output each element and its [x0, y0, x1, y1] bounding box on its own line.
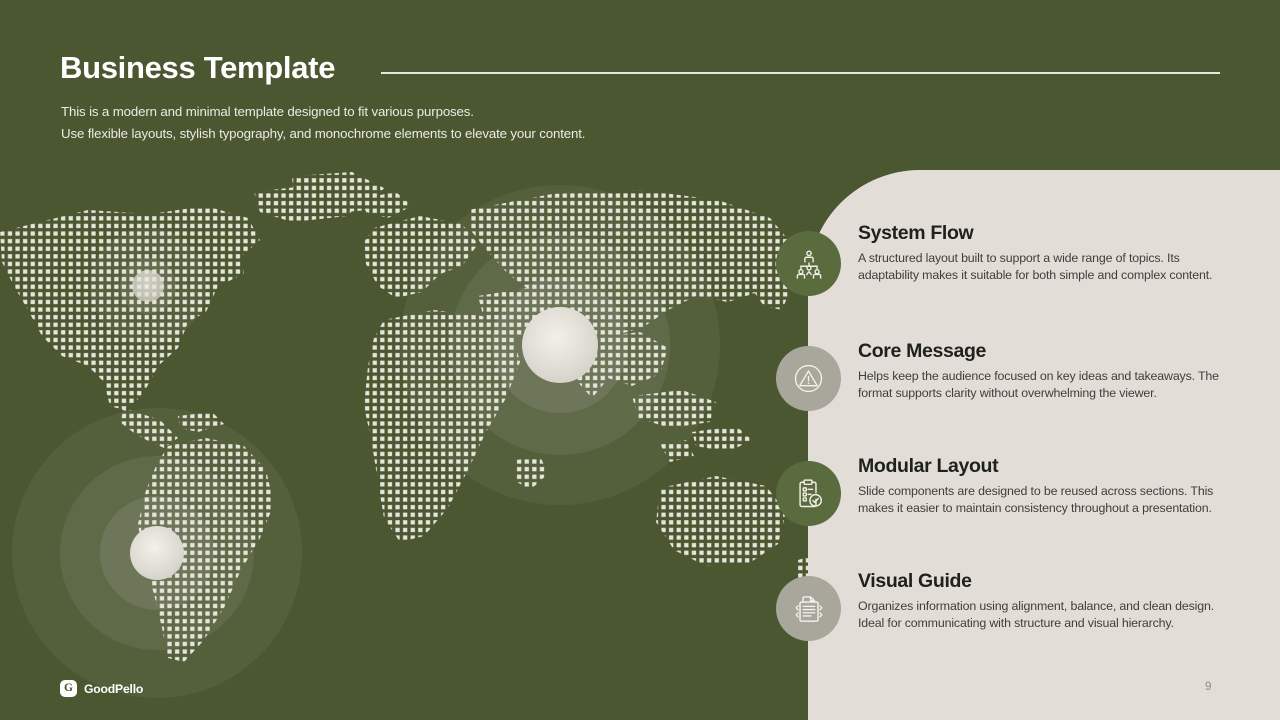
feature-visual-guide: Visual Guide Organizes information using… — [858, 570, 1228, 633]
feature-modular-layout: Modular Layout Slide components are desi… — [858, 455, 1228, 518]
title-divider-rule — [381, 72, 1220, 74]
page-number: 9 — [1205, 681, 1211, 693]
slide-header: Business Template This is a modern and m… — [0, 0, 1280, 160]
brand-logo[interactable]: G GoodPello — [60, 680, 143, 697]
feature-icon-circle-visual-guide[interactable] — [776, 576, 841, 641]
world-map-region — [0, 160, 830, 720]
feature-title: Core Message — [858, 340, 1228, 363]
documents-stack-icon — [794, 594, 824, 624]
feature-body: Slide components are designed to be reus… — [858, 483, 1228, 518]
subtitle-line-2: Use flexible layouts, stylish typography… — [61, 123, 585, 145]
subtitle-line-1: This is a modern and minimal template de… — [61, 101, 585, 123]
feature-core-message: Core Message Helps keep the audience foc… — [858, 340, 1228, 403]
feature-title: System Flow — [858, 222, 1228, 245]
marker-samerica — [130, 526, 184, 580]
feature-title: Visual Guide — [858, 570, 1228, 593]
org-chart-icon — [794, 249, 824, 279]
slide-canvas: Business Template This is a modern and m… — [0, 0, 1280, 720]
feature-system-flow: System Flow A structured layout built to… — [858, 222, 1228, 285]
marker-asia — [522, 307, 598, 383]
slide-subtitle: This is a modern and minimal template de… — [61, 101, 585, 145]
feature-icon-circle-system-flow[interactable] — [776, 231, 841, 296]
feature-body: Helps keep the audience focused on key i… — [858, 368, 1228, 403]
feature-icon-circle-modular-layout[interactable] — [776, 461, 841, 526]
warning-alert-icon — [793, 363, 824, 394]
feature-title: Modular Layout — [858, 455, 1228, 478]
dotted-world-map-icon — [0, 170, 830, 690]
clipboard-check-icon — [793, 478, 824, 509]
marker-europe — [132, 270, 164, 302]
feature-icon-circle-core-message[interactable] — [776, 346, 841, 411]
logo-text: GoodPello — [84, 682, 143, 696]
feature-body: Organizes information using alignment, b… — [858, 598, 1228, 633]
feature-body: A structured layout built to support a w… — [858, 250, 1228, 285]
logo-mark-icon: G — [60, 680, 77, 697]
page-title: Business Template — [60, 50, 335, 86]
